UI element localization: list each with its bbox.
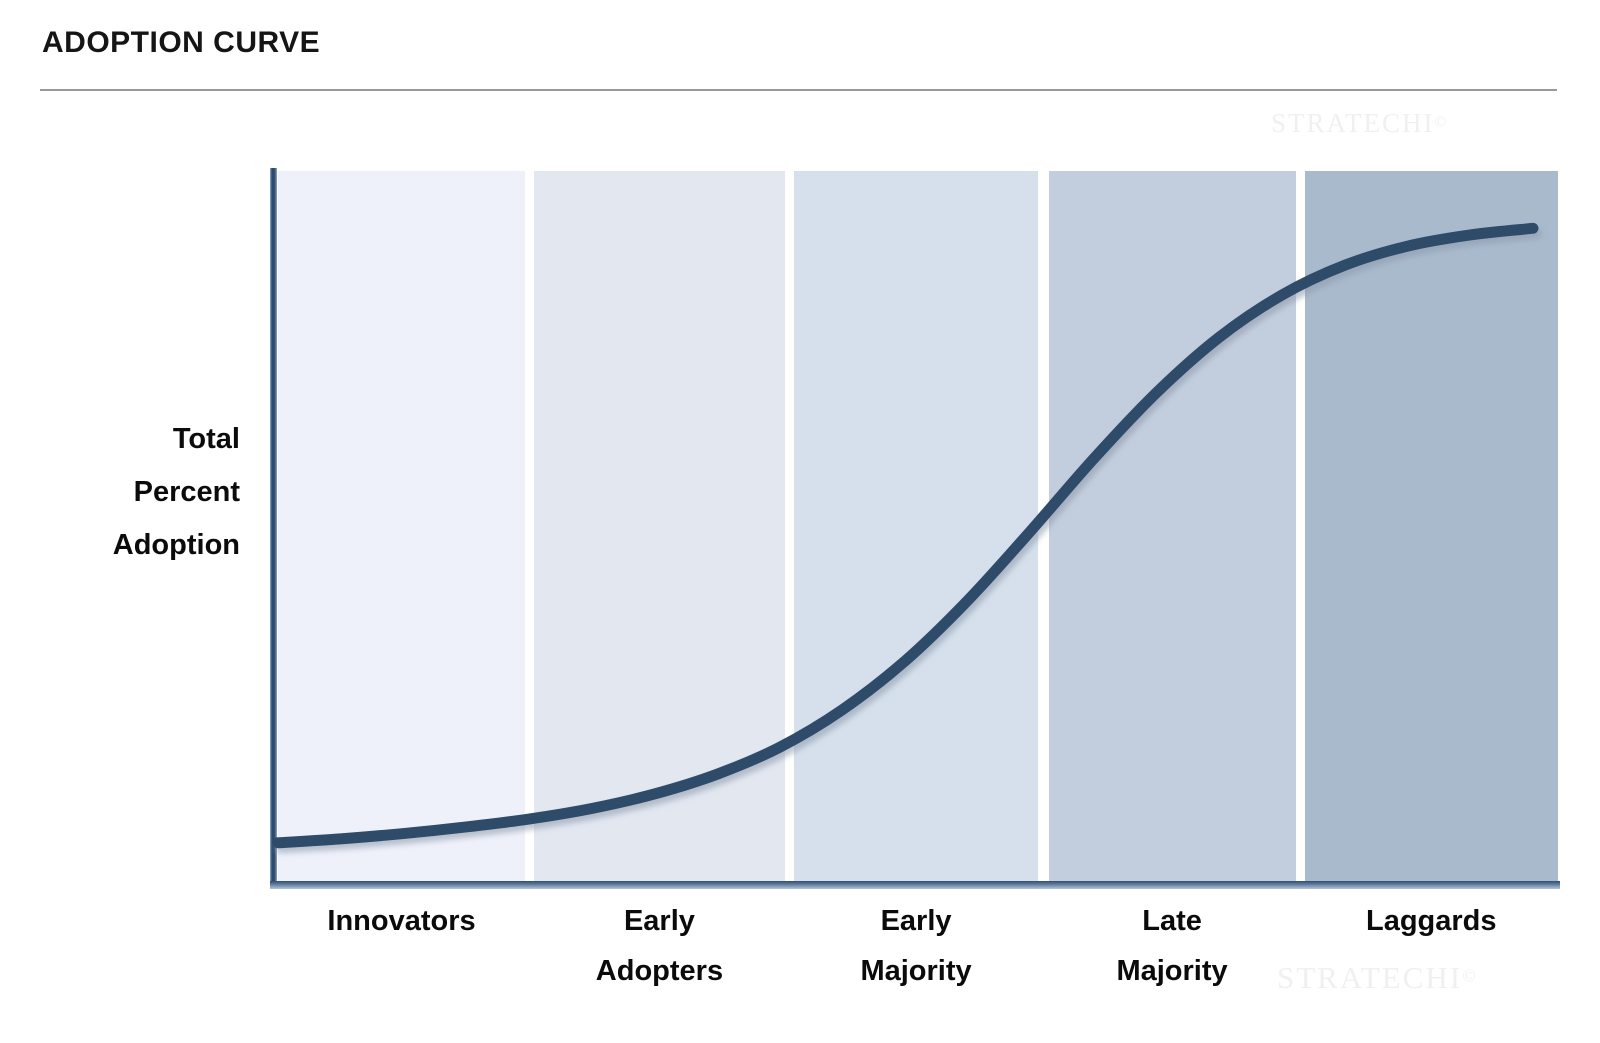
x-axis-label-line: Innovators [278,897,525,947]
x-axis-label-early-majority: EarlyMajority [794,897,1038,997]
segment-band-2 [534,171,785,884]
y-axis-title-line-2: Percent [30,466,240,519]
segment-band-1 [278,171,525,884]
x-axis-label-late-majority: LateMajority [1049,897,1296,997]
x-axis-labels: InnovatorsEarlyAdoptersEarlyMajorityLate… [278,897,1558,1027]
plot-bands [278,171,1558,884]
x-axis-line [270,881,1560,889]
x-axis-label-line: Majority [794,947,1038,997]
segment-band-4 [1049,171,1296,884]
x-axis-label-innovators: Innovators [278,897,525,947]
y-axis-title-line-3: Adoption [30,519,240,572]
segment-band-5 [1305,171,1558,884]
adoption-curve-chart: Total Percent Adoption InnovatorsEarlyAd… [0,0,1600,1043]
x-axis-label-laggards: Laggards [1305,897,1558,947]
x-axis-label-line: Adopters [534,947,785,997]
x-axis-label-line: Laggards [1305,897,1558,947]
segment-band-3 [794,171,1038,884]
x-axis-label-line: Majority [1049,947,1296,997]
x-axis-label-early-adopters: EarlyAdopters [534,897,785,997]
x-axis-label-line: Late [1049,897,1296,947]
x-axis-label-line: Early [794,897,1038,947]
x-axis-label-line: Early [534,897,785,947]
y-axis-line [270,168,277,886]
y-axis-title: Total Percent Adoption [30,413,240,571]
y-axis-title-line-1: Total [30,413,240,466]
